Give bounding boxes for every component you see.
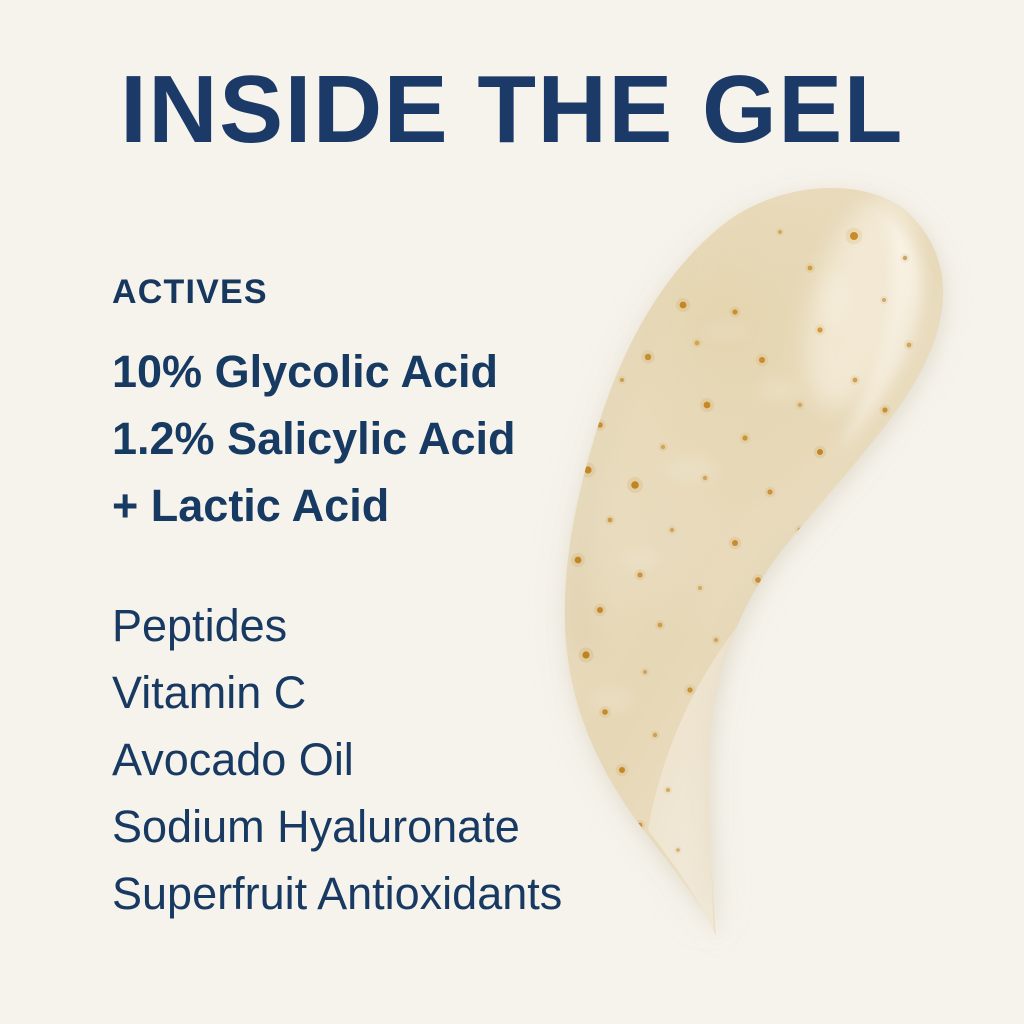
gel-speckle-halo bbox=[627, 477, 643, 493]
gel-speckle-halo bbox=[641, 668, 649, 676]
actives-item: + Lactic Acid bbox=[112, 472, 516, 539]
gel-speckle-halo bbox=[846, 228, 863, 245]
gel-speckle-halo bbox=[696, 584, 704, 592]
gel-speckle bbox=[584, 466, 591, 473]
gel-speckle bbox=[645, 354, 651, 360]
gel-speckle-halo bbox=[685, 685, 696, 696]
gel-speckle-halo bbox=[667, 525, 676, 534]
gel-speckle-halo bbox=[700, 473, 709, 482]
gel-speckle-halo bbox=[692, 338, 702, 348]
gel-speckle bbox=[798, 403, 802, 407]
gel-sheen bbox=[784, 179, 941, 420]
gel-speckle-halo bbox=[674, 846, 682, 854]
gel-speckle bbox=[732, 540, 738, 546]
gel-speckle-halo bbox=[580, 462, 595, 477]
gel-speckle bbox=[597, 422, 603, 428]
gel-inner-shadow bbox=[709, 520, 848, 930]
gel-speckle bbox=[638, 823, 643, 828]
gel-speckle-halo bbox=[815, 325, 826, 336]
gel-speckle bbox=[619, 767, 625, 773]
gel-speckles bbox=[571, 228, 914, 854]
gel-speckle bbox=[631, 481, 639, 489]
gel-speckle bbox=[602, 709, 608, 715]
gel-speckle-halo bbox=[729, 537, 742, 550]
ingredients-list: Peptides Vitamin C Avocado Oil Sodium Hy… bbox=[112, 592, 562, 927]
gel-speckle bbox=[582, 651, 589, 658]
gel-speckle-halo bbox=[814, 446, 827, 459]
actives-item: 1.2% Salicylic Acid bbox=[112, 405, 516, 472]
gel-speckle bbox=[759, 357, 765, 363]
gel-speckle bbox=[798, 528, 803, 533]
gel-speckle-halo bbox=[900, 253, 909, 262]
gel-speckle bbox=[907, 343, 912, 348]
actives-heading: ACTIVES bbox=[112, 272, 516, 312]
inside-the-gel-graphic: INSIDE THE GEL ACTIVES 10% Glycolic Acid… bbox=[0, 0, 1024, 1024]
gel-speckle bbox=[850, 232, 858, 240]
gel-speckle-halo bbox=[616, 764, 629, 777]
gel-core-shading bbox=[512, 160, 972, 680]
gel-speckle-halo bbox=[700, 398, 714, 412]
gel-speckle-halo bbox=[599, 706, 611, 718]
gel-speckle bbox=[742, 435, 747, 440]
gel-speckle-halo bbox=[850, 375, 860, 385]
gel-speckle bbox=[778, 230, 782, 234]
gel-speckle bbox=[817, 327, 822, 332]
gel-speckle bbox=[704, 402, 711, 409]
gel-speckle-halo bbox=[635, 570, 646, 581]
gel-body bbox=[565, 188, 943, 936]
gel-speckle bbox=[703, 476, 707, 480]
gel-speckle-halo bbox=[594, 419, 606, 431]
gel-speckle-halo bbox=[795, 525, 805, 535]
ingredient-item: Superfruit Antioxidants bbox=[112, 860, 562, 927]
gel-speckle bbox=[608, 518, 613, 523]
gel-speckle-halo bbox=[655, 620, 665, 630]
gel-speckle bbox=[676, 848, 680, 852]
ingredient-item: Vitamin C bbox=[112, 659, 562, 726]
gel-speckle bbox=[882, 407, 887, 412]
gel-speckle bbox=[575, 557, 582, 564]
gel-speckle-halo bbox=[664, 786, 672, 794]
gel-speckle bbox=[695, 341, 700, 346]
gel-speckle-halo bbox=[844, 485, 857, 498]
gel-speckle-halo bbox=[711, 635, 720, 644]
gel-speckle bbox=[670, 528, 674, 532]
gel-speckle-halo bbox=[765, 487, 776, 498]
actives-list: 10% Glycolic Acid 1.2% Salicylic Acid + … bbox=[112, 338, 516, 539]
gel-speckle bbox=[637, 572, 642, 577]
actives-item: 10% Glycolic Acid bbox=[112, 338, 516, 405]
gel-speckle-halo bbox=[795, 400, 804, 409]
gel-texture bbox=[590, 274, 854, 713]
gel-speckle bbox=[767, 489, 772, 494]
gel-speckle bbox=[666, 788, 670, 792]
gel-speckle-halo bbox=[571, 553, 585, 567]
gel-speckle bbox=[755, 577, 761, 583]
gel-speckle bbox=[620, 378, 624, 382]
gel-speckle-halo bbox=[730, 307, 741, 318]
gel-speckle-halo bbox=[756, 354, 769, 367]
gel-speckle bbox=[853, 378, 858, 383]
gel-speckle bbox=[817, 449, 823, 455]
gel-speckle-halo bbox=[594, 604, 607, 617]
gel-speckle bbox=[848, 489, 854, 495]
gel-speckle bbox=[597, 607, 603, 613]
gel-speckle-halo bbox=[740, 433, 751, 444]
page-title: INSIDE THE GEL bbox=[0, 60, 1024, 160]
gel-speckle-halo bbox=[641, 350, 654, 363]
gel-gloss-highlight bbox=[838, 214, 923, 452]
gel-speckle bbox=[687, 687, 692, 692]
gel-speckle bbox=[732, 309, 737, 314]
gel-tail bbox=[648, 620, 742, 936]
gel-speckle-halo bbox=[880, 405, 891, 416]
gel-speckle bbox=[643, 670, 647, 674]
gel-speckle bbox=[808, 266, 813, 271]
gel-speckle-halo bbox=[880, 296, 888, 304]
gel-speckle bbox=[661, 445, 665, 449]
gel-speckle bbox=[903, 256, 907, 260]
gel-speckle-halo bbox=[904, 340, 914, 350]
gel-speckle bbox=[882, 298, 886, 302]
gel-left-edge-shadow bbox=[565, 248, 694, 660]
actives-block: ACTIVES 10% Glycolic Acid 1.2% Salicylic… bbox=[112, 272, 516, 539]
gel-speckle-halo bbox=[650, 730, 659, 739]
ingredient-item: Avocado Oil bbox=[112, 726, 562, 793]
gel-speckle-halo bbox=[605, 515, 615, 525]
gel-speckle-halo bbox=[635, 820, 645, 830]
gel-speckle bbox=[680, 302, 687, 309]
gel-speckle-halo bbox=[776, 228, 784, 236]
ingredient-item: Sodium Hyaluronate bbox=[112, 793, 562, 860]
gel-speckle bbox=[658, 623, 663, 628]
gel-speckle-halo bbox=[805, 263, 815, 273]
gel-speckle bbox=[698, 586, 702, 590]
gel-speckle bbox=[714, 638, 718, 642]
gel-speckle bbox=[653, 733, 657, 737]
gel-shadow bbox=[571, 203, 930, 926]
gel-speckle-halo bbox=[658, 442, 667, 451]
gel-speckle-halo bbox=[618, 376, 626, 384]
gel-speckle-halo bbox=[752, 574, 764, 586]
gel-speckle-halo bbox=[578, 647, 593, 662]
gel-speckle-halo bbox=[676, 298, 690, 312]
ingredient-item: Peptides bbox=[112, 592, 562, 659]
